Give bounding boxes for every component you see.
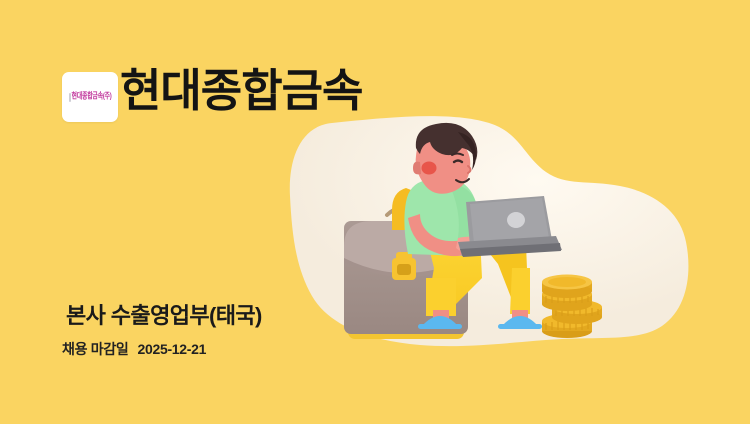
deadline-date: 2025-12-21 bbox=[138, 342, 207, 356]
recruitment-banner: 현대종합금속(주) 현대종합금속 bbox=[0, 0, 750, 424]
shoes bbox=[418, 310, 542, 329]
deadline-label: 채용 마감일 bbox=[62, 342, 129, 356]
coin-stack-icon bbox=[542, 275, 602, 339]
deadline-row: 채용 마감일 2025-12-21 bbox=[62, 342, 206, 356]
logo-accent-bar bbox=[69, 93, 71, 102]
department-title: 본사 수출영업부(태국) bbox=[66, 305, 262, 327]
laptop-icon bbox=[458, 196, 562, 257]
company-logo-chip: 현대종합금속(주) bbox=[62, 72, 118, 122]
company-logo-mark: 현대종합금속(주) bbox=[69, 93, 112, 102]
company-name-heading: 현대종합금속 bbox=[120, 68, 362, 113]
laptop-worker-illustration bbox=[330, 118, 650, 350]
logo-wordmark-text: 현대종합금속(주) bbox=[72, 93, 112, 102]
